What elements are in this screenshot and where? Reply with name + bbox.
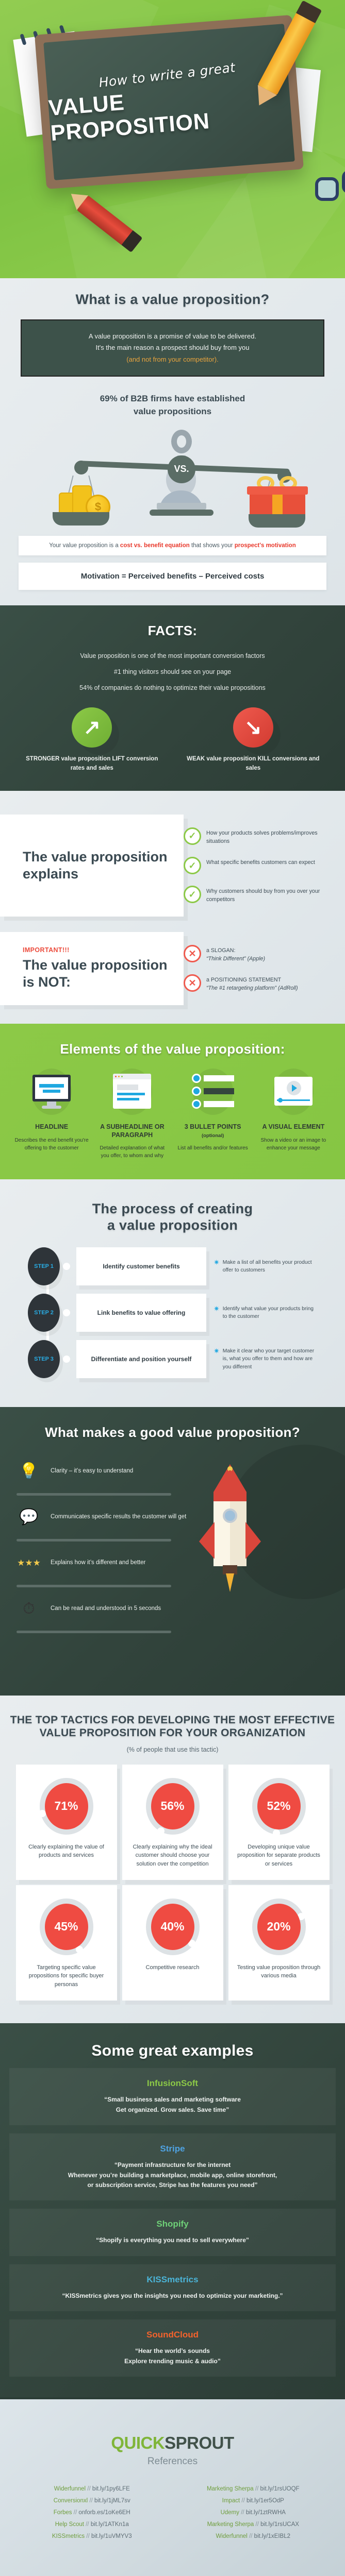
reference-source: KISSmetrics xyxy=(52,2533,85,2539)
element-title: HEADLINE xyxy=(14,1123,89,1131)
examples-section: Some great examples InfusionSoft “Small … xyxy=(0,2023,345,2397)
process-steps: STEP 1 Identify customer benefits ✷ Make… xyxy=(8,1247,337,1378)
donut-value: 71% xyxy=(45,1783,88,1829)
step-node xyxy=(63,1263,70,1270)
scale-pan-left xyxy=(53,512,109,526)
reference-source: Help Scout xyxy=(55,2521,84,2528)
reference-source: Widerfunnel xyxy=(216,2533,248,2539)
strip-highlight-1: cost vs. benefit equation xyxy=(120,543,190,549)
tactics-heading: THE TOP TACTICS FOR DEVELOPING THE MOST … xyxy=(6,1714,339,1740)
reference-item[interactable]: Impact // bit.ly/1er5OdP xyxy=(173,2498,334,2504)
strip-text-mid: that shows your xyxy=(190,543,235,549)
example-card: SoundCloud “Hear the world’s sounds Expl… xyxy=(9,2319,336,2377)
scale-base xyxy=(157,503,206,510)
cost-benefit-strip: Your value proposition is a cost vs. ben… xyxy=(19,536,326,555)
process-step: STEP 2 Link benefits to value offering ✷… xyxy=(28,1294,337,1332)
check-circle-icon: ✓ xyxy=(184,857,201,874)
reference-separator: // xyxy=(87,2486,90,2492)
footer-section: QUICKSPROUT References Widerfunnel // bi… xyxy=(0,2397,345,2576)
list-item: ✓ Why customers should buy from you over… xyxy=(184,886,340,904)
fact-item: 54% of companies do nothing to optimize … xyxy=(11,680,334,696)
reference-url[interactable]: bit.ly/1ztRWHA xyxy=(246,2510,286,2516)
references-column-right: Marketing Sherpa // bit.ly/1rsUOQF Impac… xyxy=(173,2486,334,2545)
example-name: KISSmetrics xyxy=(18,2275,327,2285)
example-card: InfusionSoft “Small business sales and m… xyxy=(9,2068,336,2125)
step-badge: STEP 2 xyxy=(28,1294,60,1332)
process-heading-line-2: a value proposition xyxy=(8,1217,337,1234)
step-note-text: Identify what value your products bring … xyxy=(223,1305,317,1321)
step-node xyxy=(63,1309,70,1316)
example-name: InfusionSoft xyxy=(18,2078,327,2089)
reference-source: Marketing Sherpa xyxy=(207,2486,254,2492)
reference-url[interactable]: bit.ly/1ATKn1a xyxy=(91,2521,129,2528)
is-not-panel: IMPORTANT!!! The value proposition is NO… xyxy=(0,932,345,1005)
definition-line-1: A value proposition is a promise of valu… xyxy=(30,331,315,342)
element-subtitle: (optional) xyxy=(202,1133,224,1139)
example-quote: “Small business sales and marketing soft… xyxy=(18,2095,327,2115)
cross-circle-icon: ✕ xyxy=(184,945,201,962)
tactic-card: 52% Developing unique value proposition … xyxy=(228,1765,330,1880)
tactic-label: Developing unique value proposition for … xyxy=(236,1843,322,1869)
explains-item-text: What specific benefits customers can exp… xyxy=(206,857,315,867)
lightbulb-icon: 💡 xyxy=(14,1457,43,1486)
reference-separator: // xyxy=(86,2533,89,2539)
tactic-label: Clearly explaining why the ideal custome… xyxy=(129,1843,216,1869)
step-note-text: Make a list of all benefits your product… xyxy=(223,1259,317,1275)
reference-source: Conversionxl xyxy=(54,2498,88,2504)
scale-heading-line-2: value propositions xyxy=(11,405,334,418)
list-item: ⏱ Can be read and understood in 5 second… xyxy=(14,1587,195,1631)
gift-box-icon xyxy=(250,483,305,515)
step-card-title: Identify customer benefits xyxy=(76,1247,206,1285)
element-desc: List all benefits and/or features xyxy=(176,1144,250,1152)
process-step: STEP 1 Identify customer benefits ✷ Make… xyxy=(28,1247,337,1285)
reference-item[interactable]: KISSmetrics // bit.ly/1uVMYV3 xyxy=(11,2533,173,2539)
tactic-card: 20% Testing value proposition through va… xyxy=(228,1885,330,2001)
motivation-equation: Motivation = Perceived benefits – Percei… xyxy=(19,563,326,590)
tactics-section: THE TOP TACTICS FOR DEVELOPING THE MOST … xyxy=(0,1696,345,2023)
donut-value: 52% xyxy=(257,1783,301,1829)
element-desc: Detailed explanation of what you offer, … xyxy=(95,1144,169,1160)
tactic-card: 40% Competitive research xyxy=(122,1885,223,2001)
list-item: ✓ How your products solves problems/impr… xyxy=(184,827,340,845)
facts-list: Value proposition is one of the most imp… xyxy=(11,648,334,697)
tactic-card: 71% Clearly explaining the value of prod… xyxy=(16,1765,117,1880)
examples-heading: Some great examples xyxy=(0,2042,345,2060)
process-step: STEP 3 Differentiate and position yourse… xyxy=(28,1340,337,1378)
example-card: Shopify “Shopify is everything you need … xyxy=(9,2209,336,2256)
element-desc: Show a video or an image to enhance your… xyxy=(256,1137,331,1152)
reference-separator: // xyxy=(249,2533,252,2539)
step-badge: STEP 3 xyxy=(28,1340,60,1378)
facts-heading: FACTS: xyxy=(11,623,334,639)
tactics-subtitle: (% of people that use this tactic) xyxy=(6,1746,339,1753)
example-quote: “Payment infrastructure for the internet… xyxy=(18,2160,327,2190)
list-item: 💡 Clarity – it’s easy to understand xyxy=(14,1450,195,1493)
facts-column-text: WEAK value proposition KILL conversions … xyxy=(173,755,334,773)
reference-url[interactable]: bit.ly/1jML7sv xyxy=(94,2498,130,2504)
scale-heading-line-1: 69% of B2B firms have established xyxy=(11,392,334,405)
explains-section: The value proposition explains ✓ How you… xyxy=(0,791,345,1024)
rocket-icon xyxy=(213,1464,247,1566)
good-vp-item-text: Explains how it’s different and better xyxy=(51,1558,145,1567)
donut-value: 20% xyxy=(257,1904,301,1950)
reference-source: Forbes xyxy=(54,2510,72,2516)
donut-chart: 20% xyxy=(252,1899,306,1955)
references-columns: Widerfunnel // bit.ly/1py6LFE Conversion… xyxy=(11,2486,334,2545)
good-vp-body: 💡 Clarity – it’s easy to understand 💬 Co… xyxy=(9,1450,336,1633)
tactic-label: Testing value proposition through variou… xyxy=(236,1963,322,1980)
reference-source: Marketing Sherpa xyxy=(207,2521,254,2528)
step-badge: STEP 1 xyxy=(28,1247,60,1285)
facts-section: FACTS: Value proposition is one of the m… xyxy=(0,605,345,791)
definition-line-3: (and not from your competitor). xyxy=(30,354,315,365)
good-vp-item-text: Communicates specific results the custom… xyxy=(51,1513,186,1521)
is-not-example: “The #1 retargeting platform” (AdRoll) xyxy=(206,985,298,991)
good-vp-section: What makes a good value proposition? 💡 C… xyxy=(0,1407,345,1696)
check-circle-icon: ✓ xyxy=(184,886,201,903)
facts-column-weak: ↘ WEAK value proposition KILL conversion… xyxy=(173,707,334,773)
donut-chart: 40% xyxy=(146,1899,200,1955)
reference-url[interactable]: bit.ly/1py6LFE xyxy=(92,2486,130,2492)
divider xyxy=(17,1631,171,1633)
scale-heading: 69% of B2B firms have established value … xyxy=(11,392,334,418)
element-headline: HEADLINE Describes the end benefit you'r… xyxy=(11,1071,92,1160)
is-not-title-card: IMPORTANT!!! The value proposition is NO… xyxy=(0,932,184,1005)
reference-item[interactable]: Conversionxl // bit.ly/1jML7sv xyxy=(11,2498,173,2504)
rocket-illustration xyxy=(195,1450,336,1633)
step-card-title: Differentiate and position yourself xyxy=(76,1340,206,1378)
explains-item-text: Why customers should buy from you over y… xyxy=(206,886,340,904)
reference-separator: // xyxy=(74,2510,77,2516)
good-vp-list: 💡 Clarity – it’s easy to understand 💬 Co… xyxy=(9,1450,195,1633)
donut-chart: 56% xyxy=(146,1778,200,1835)
logo-part-quick: QUICK xyxy=(111,2433,165,2452)
element-visual: A VISUAL ELEMENT Show a video or an imag… xyxy=(253,1071,334,1160)
fact-item: #1 thing visitors should see on your pag… xyxy=(11,664,334,680)
scale-pan-right xyxy=(249,514,305,528)
balance-scale-illustration: $ VS. xyxy=(11,426,334,529)
asterisk-icon: ✷ xyxy=(213,1305,220,1321)
cross-circle-icon: ✕ xyxy=(184,974,201,992)
reference-item[interactable]: Marketing Sherpa // bit.ly/1rsUOQF xyxy=(173,2486,334,2492)
reference-separator: // xyxy=(255,2486,258,2492)
step-note-text: Make it clear who your target customer i… xyxy=(223,1347,317,1371)
reference-url[interactable]: bit.ly/1er5OdP xyxy=(247,2498,284,2504)
element-subheadline: A SUBHEADLINE OR PARAGRAPH Detailed expl… xyxy=(92,1071,172,1160)
list-item: 💬 Communicates specific results the cust… xyxy=(14,1496,195,1539)
element-desc: Describes the end benefit you're offerin… xyxy=(14,1137,89,1152)
is-not-example: “Think Different” (Apple) xyxy=(206,956,265,962)
example-card: KISSmetrics “KISSmetrics gives you the i… xyxy=(9,2264,336,2311)
list-item: ✕ a POSITIONING STATEMENT “The #1 retarg… xyxy=(184,974,340,992)
explains-item-text: How your products solves problems/improv… xyxy=(206,827,340,845)
elements-heading: Elements of the value proposition: xyxy=(11,1041,334,1057)
is-not-list: ✕ a SLOGAN: “Think Different” (Apple) ✕ … xyxy=(184,932,345,1005)
reference-source: Widerfunnel xyxy=(54,2486,86,2492)
video-player-icon xyxy=(271,1071,316,1115)
explains-title-card: The value proposition explains xyxy=(0,815,184,917)
elements-grid: HEADLINE Describes the end benefit you'r… xyxy=(11,1071,334,1160)
step-note: ✷ Make a list of all benefits your produ… xyxy=(213,1259,317,1275)
tactics-grid: 71% Clearly explaining the value of prod… xyxy=(6,1765,339,2001)
donut-value: 45% xyxy=(45,1904,88,1950)
process-section: The process of creating a value proposit… xyxy=(0,1179,345,1407)
definition-box: A value proposition is a promise of valu… xyxy=(21,319,324,377)
tactic-card: 56% Clearly explaining why the ideal cus… xyxy=(122,1765,223,1880)
process-heading-line-1: The process of creating xyxy=(8,1201,337,1217)
fact-item: Value proposition is one of the most imp… xyxy=(11,648,334,664)
bullet-list-icon xyxy=(191,1071,235,1115)
references-title: References xyxy=(11,2456,334,2467)
hero-main-title: VALUE PROPOSITION xyxy=(47,77,292,146)
process-heading: The process of creating a value proposit… xyxy=(8,1201,337,1234)
step-note: ✷ Identify what value your products brin… xyxy=(213,1305,317,1321)
example-quote: “Shopify is everything you need to sell … xyxy=(18,2235,327,2245)
reference-source: Impact xyxy=(222,2498,240,2504)
strip-text-pre: Your value proposition is a xyxy=(49,543,120,549)
scale-foot xyxy=(150,510,213,516)
reference-separator: // xyxy=(256,2521,259,2528)
elements-section: Elements of the value proposition: HEADL… xyxy=(0,1024,345,1179)
is-not-label: a POSITIONING STATEMENT xyxy=(206,977,281,983)
tactic-card: 45% Targeting specific value proposition… xyxy=(16,1885,117,2001)
element-bullets: 3 BULLET POINTS (optional) List all bene… xyxy=(173,1071,253,1160)
strip-highlight-2: prospect's motivation xyxy=(235,543,296,549)
explains-panel: The value proposition explains ✓ How you… xyxy=(0,815,345,917)
donut-value: 40% xyxy=(151,1904,194,1950)
definition-line-2: It's the main reason a prospect should b… xyxy=(30,342,315,353)
asterisk-icon: ✷ xyxy=(213,1259,220,1275)
example-quote: “Hear the world’s sounds Explore trendin… xyxy=(18,2346,327,2366)
reference-url[interactable]: bit.ly/1rsUOQF xyxy=(260,2486,300,2492)
reference-item[interactable]: Forbes // onforb.es/1oKe6EH xyxy=(11,2510,173,2516)
three-stars-icon: ★★★ xyxy=(14,1549,43,1578)
donut-chart: 45% xyxy=(40,1899,93,1955)
tactic-label: Clearly explaining the value of products… xyxy=(23,1843,110,1860)
monitor-icon xyxy=(29,1071,74,1115)
facts-column-stronger: ↗ STRONGER value proposition LIFT conver… xyxy=(11,707,173,773)
list-item: ✕ a SLOGAN: “Think Different” (Apple) xyxy=(184,945,340,963)
tactic-label: Targeting specific value propositions fo… xyxy=(23,1963,110,1989)
explains-title: The value proposition explains xyxy=(23,849,173,883)
references-column-left: Widerfunnel // bit.ly/1py6LFE Conversion… xyxy=(11,2486,173,2545)
vs-badge: VS. xyxy=(168,455,195,483)
reference-url[interactable]: onforb.es/1oKe6EH xyxy=(78,2510,130,2516)
scale-knob-left xyxy=(74,461,88,474)
example-name: Stripe xyxy=(18,2144,327,2154)
reference-separator: // xyxy=(241,2498,244,2504)
is-not-label: a SLOGAN: xyxy=(206,947,235,954)
tactic-label: Competitive research xyxy=(129,1963,216,1972)
tactics-heading-line-2: VALUE PROPOSITION FOR YOUR ORGANIZATION xyxy=(6,1727,339,1740)
example-quote: “KISSmetrics gives you the insights you … xyxy=(18,2291,327,2301)
element-title: A VISUAL ELEMENT xyxy=(256,1123,331,1131)
list-item: ✓ What specific benefits customers can e… xyxy=(184,857,340,874)
donut-chart: 52% xyxy=(252,1778,306,1835)
scale-ring xyxy=(171,430,192,453)
quicksprout-logo: QUICKSPROUT xyxy=(11,2433,334,2453)
what-is-heading: What is a value proposition? xyxy=(11,292,334,308)
good-vp-item-text: Can be read and understood in 5 seconds xyxy=(51,1604,161,1613)
hero-section: How to write a great VALUE PROPOSITION xyxy=(0,0,345,278)
speech-bubble-thumbs-up-icon: 💬 xyxy=(14,1503,43,1532)
good-vp-heading: What makes a good value proposition? xyxy=(9,1425,336,1440)
reference-separator: // xyxy=(86,2521,89,2528)
step-card-title: Link benefits to value offering xyxy=(76,1294,206,1332)
reference-url[interactable]: bit.ly/1xEIBL2 xyxy=(254,2533,290,2539)
facts-column-text: STRONGER value proposition LIFT conversi… xyxy=(11,755,173,773)
reference-source: Udemy xyxy=(221,2510,239,2516)
stopwatch-icon: ⏱ xyxy=(14,1595,43,1623)
facts-columns: ↗ STRONGER value proposition LIFT conver… xyxy=(11,707,334,773)
step-note: ✷ Make it clear who your target customer… xyxy=(213,1347,317,1371)
arrow-down-right-icon: ↘ xyxy=(233,707,273,748)
check-circle-icon: ✓ xyxy=(184,827,201,845)
element-title: A SUBHEADLINE OR PARAGRAPH xyxy=(95,1123,169,1139)
example-card: Stripe “Payment infrastructure for the i… xyxy=(9,2133,336,2200)
element-title: 3 BULLET POINTS xyxy=(185,1123,241,1130)
donut-chart: 71% xyxy=(40,1778,93,1835)
reference-url[interactable]: bit.ly/1rsUCAX xyxy=(260,2521,299,2528)
donut-value: 56% xyxy=(151,1783,194,1829)
step-node xyxy=(63,1355,70,1363)
reference-item[interactable]: Widerfunnel // bit.ly/1py6LFE xyxy=(11,2486,173,2492)
logo-part-sprout: SPROUT xyxy=(165,2433,234,2452)
reference-url[interactable]: bit.ly/1uVMYV3 xyxy=(91,2533,132,2539)
reference-item[interactable]: Widerfunnel // bit.ly/1xEIBL2 xyxy=(173,2533,334,2539)
reference-item[interactable]: Marketing Sherpa // bit.ly/1rsUCAX xyxy=(173,2521,334,2528)
reference-separator: // xyxy=(89,2498,92,2504)
explains-list: ✓ How your products solves problems/impr… xyxy=(184,815,345,917)
example-name: Shopify xyxy=(18,2219,327,2229)
what-is-section: What is a value proposition? A value pro… xyxy=(0,278,345,605)
infographic-page: How to write a great VALUE PROPOSITION W… xyxy=(0,0,345,2576)
asterisk-icon: ✷ xyxy=(213,1347,220,1371)
tactics-heading-line-1-visible: THE TOP TACTICS FOR DEVELOPING THE MOST … xyxy=(6,1714,339,1727)
arrow-up-right-icon: ↗ xyxy=(72,707,112,748)
reference-item[interactable]: Help Scout // bit.ly/1ATKn1a xyxy=(11,2521,173,2528)
example-name: SoundCloud xyxy=(18,2330,327,2340)
reference-separator: // xyxy=(241,2510,244,2516)
important-label: IMPORTANT!!! xyxy=(23,946,173,954)
is-not-title: The value proposition is NOT: xyxy=(23,957,173,991)
browser-window-icon xyxy=(110,1071,154,1115)
list-item: ★★★ Explains how it’s different and bett… xyxy=(14,1541,195,1585)
reference-item[interactable]: Udemy // bit.ly/1ztRWHA xyxy=(173,2510,334,2516)
good-vp-item-text: Clarity – it’s easy to understand xyxy=(51,1467,133,1476)
